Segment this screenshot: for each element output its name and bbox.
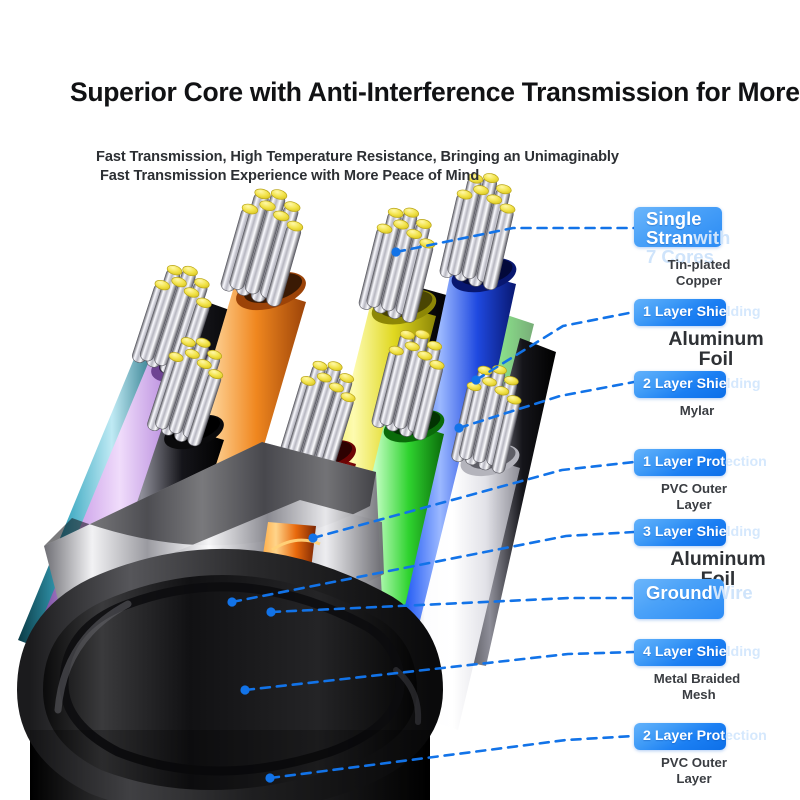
infographic-canvas: Superior Core with Anti-Interference Tra…	[0, 0, 800, 800]
sublabel-pvc-outer-layer-2: PVC Outer Layer	[634, 755, 754, 786]
badge-layer-protection-1-label: 1 Layer Protection	[643, 449, 767, 476]
sublabel-metal-braided-mesh: Metal Braided Mesh	[622, 671, 772, 702]
sublabel-mylar: Mylar	[642, 403, 752, 419]
leader-layer-shielding-3	[232, 532, 634, 602]
badge-layer-shielding-3-label: 3 Layer Shielding	[643, 519, 761, 546]
leader-ground-wire	[271, 598, 634, 612]
leader-layer-shielding-1	[476, 312, 634, 380]
badge-layer-shielding-2-label: 2 Layer Shielding	[643, 371, 761, 398]
badge-layer-protection-2-label: 2 Layer Protection	[643, 723, 767, 750]
badge-layer-shielding-1-label: 1 Layer Shielding	[643, 299, 761, 326]
leader-endpoint-dots	[227, 247, 480, 782]
leader-layer-protection-1	[313, 462, 634, 538]
page-subtitle: Fast Transmission, High Temperature Resi…	[96, 148, 619, 187]
page-title: Superior Core with Anti-Interference Tra…	[70, 78, 800, 107]
leader-single-strand	[396, 228, 634, 252]
sublabel-tin-plated-copper: Tin-plated Copper	[634, 257, 764, 288]
leader-layer-protection-2	[270, 736, 634, 778]
leader-layer-shielding-2	[459, 382, 634, 428]
sublabel-pvc-outer-layer-1: PVC Outer Layer	[634, 481, 754, 512]
sublabel-aluminum-foil-1: Aluminum Foil	[646, 329, 786, 370]
badge-ground-wire-label: GroundWire	[646, 583, 738, 602]
leader-layer-shielding-4	[245, 652, 634, 690]
badge-layer-shielding-4-label: 4 Layer Shielding	[643, 639, 761, 666]
